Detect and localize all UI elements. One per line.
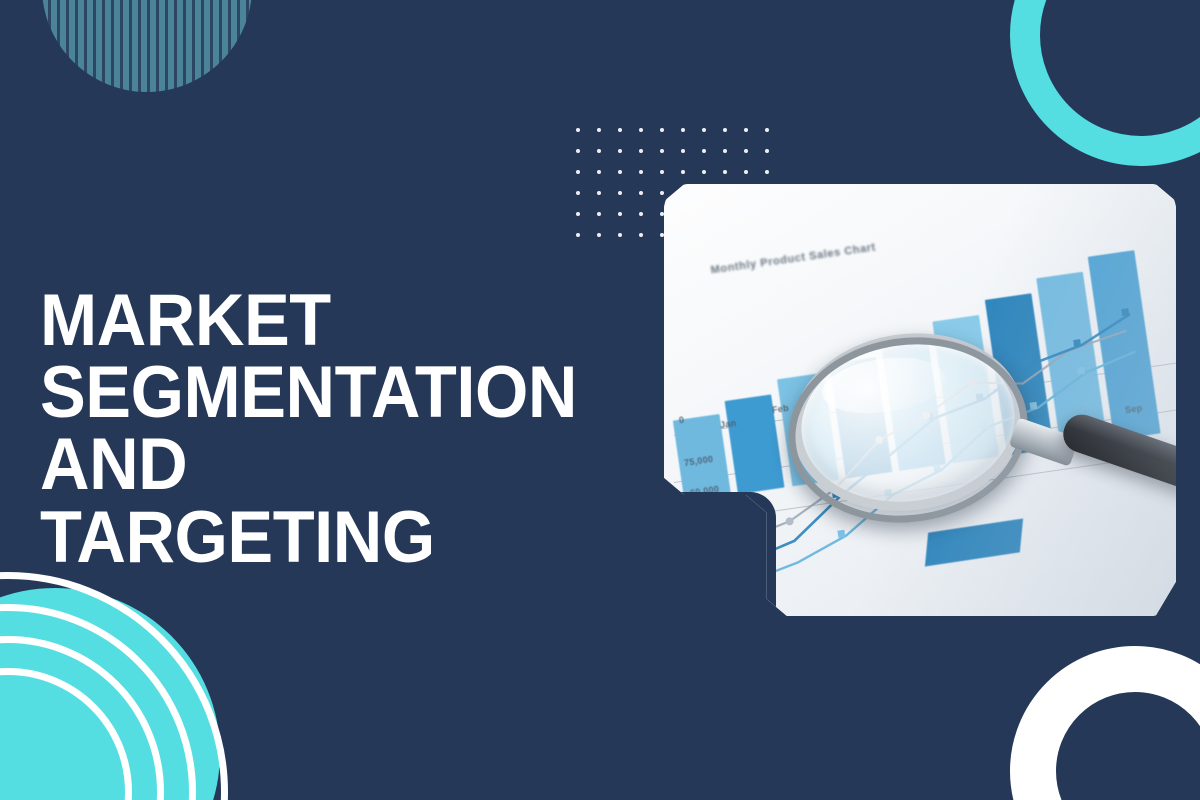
grid-dot [639, 191, 643, 195]
grid-dot [723, 149, 727, 153]
grid-dot [618, 149, 622, 153]
white-ring-decoration [1010, 646, 1200, 800]
grid-dot [660, 170, 664, 174]
striped-half-circle-decoration [42, 0, 252, 92]
grid-dot [660, 128, 664, 132]
grid-dot [681, 149, 685, 153]
title-line-2: SEGMENTATION [40, 357, 642, 429]
grid-dot [660, 233, 664, 237]
stripe-pattern [42, 0, 252, 92]
grid-dot [681, 128, 685, 132]
grid-dot [765, 170, 769, 174]
poster-canvas: MARKET SEGMENTATION AND TARGETING [0, 0, 1200, 800]
grid-dot [618, 233, 622, 237]
photo-vignette [664, 184, 1176, 616]
grid-dot [576, 170, 580, 174]
grid-dot [576, 128, 580, 132]
grid-dot [639, 149, 643, 153]
grid-dot [576, 233, 580, 237]
grid-dot [597, 233, 601, 237]
grid-dot [576, 212, 580, 216]
grid-dot [660, 149, 664, 153]
page-title: MARKET SEGMENTATION AND TARGETING [40, 285, 642, 574]
title-line-1: MARKET [40, 285, 642, 357]
grid-dot [744, 170, 748, 174]
card-notch [664, 492, 776, 616]
title-line-3: AND [40, 429, 642, 501]
grid-dot [744, 149, 748, 153]
grid-dot [576, 191, 580, 195]
grid-dot [765, 128, 769, 132]
grid-dot [597, 212, 601, 216]
grid-dot [744, 128, 748, 132]
grid-dot [765, 149, 769, 153]
grid-dot [618, 170, 622, 174]
grid-dot [597, 191, 601, 195]
grid-dot [639, 128, 643, 132]
photo-content: Monthly Product Sales Chart 75,000 60,00… [664, 184, 1176, 616]
grid-dot [597, 149, 601, 153]
business-analytics-photo: Monthly Product Sales Chart 75,000 60,00… [664, 184, 1176, 616]
grid-dot [660, 191, 664, 195]
grid-dot [618, 212, 622, 216]
grid-dot [702, 128, 706, 132]
grid-dot [618, 191, 622, 195]
grid-dot [702, 149, 706, 153]
title-line-4: TARGETING [40, 502, 642, 574]
cyan-ring-decoration [1010, 0, 1200, 166]
grid-dot [660, 212, 664, 216]
grid-dot [618, 128, 622, 132]
grid-dot [702, 170, 706, 174]
grid-dot [639, 170, 643, 174]
grid-dot [723, 170, 727, 174]
grid-dot [597, 128, 601, 132]
grid-dot [639, 212, 643, 216]
grid-dot [597, 170, 601, 174]
grid-dot [639, 233, 643, 237]
grid-dot [681, 170, 685, 174]
grid-dot [576, 149, 580, 153]
grid-dot [723, 128, 727, 132]
